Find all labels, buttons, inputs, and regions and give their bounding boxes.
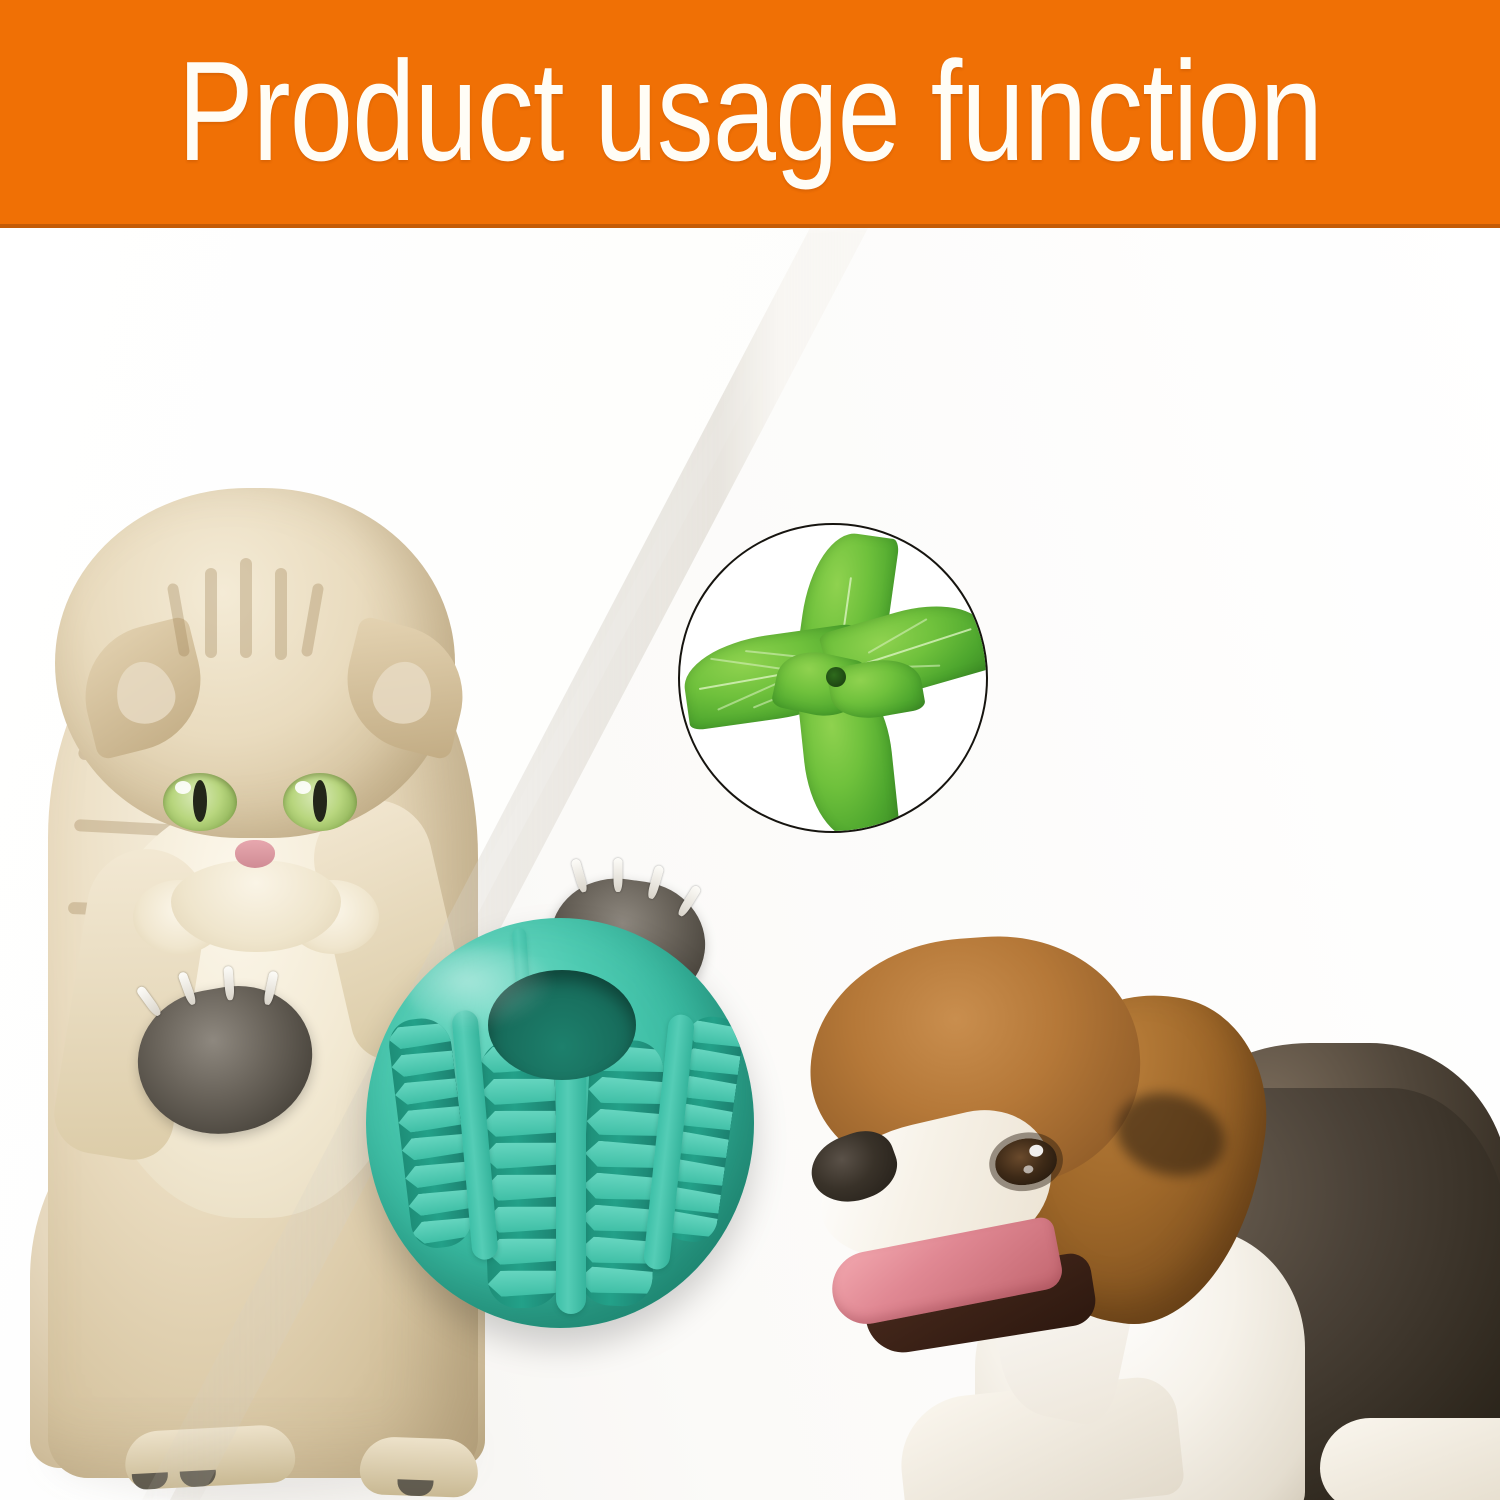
cat-forehead-stripe bbox=[205, 568, 217, 658]
cat-nose bbox=[235, 840, 275, 868]
cat-hind-paw-right bbox=[359, 1436, 479, 1498]
cat-eye-glint bbox=[175, 781, 191, 794]
chew-ball-tooth bbox=[579, 1236, 654, 1266]
chew-ball-tooth bbox=[485, 1205, 560, 1234]
chew-ball-sphere bbox=[366, 918, 754, 1328]
chew-ball-tooth bbox=[401, 1132, 465, 1161]
chew-ball-tooth bbox=[578, 1266, 653, 1296]
chew-ball-tooth bbox=[588, 1076, 663, 1106]
chew-ball-product bbox=[366, 918, 754, 1328]
chew-ball-tooth bbox=[390, 1049, 454, 1078]
dog-hindleg bbox=[1320, 1418, 1500, 1500]
cat-forehead-stripe bbox=[275, 568, 287, 660]
mint-badge-circle bbox=[678, 523, 988, 833]
photo-collage bbox=[0, 228, 1500, 1500]
chew-ball-tooth bbox=[397, 1104, 461, 1133]
chew-ball-tooth bbox=[586, 1108, 661, 1138]
dog-eye-glint bbox=[1028, 1144, 1044, 1158]
cat-claw bbox=[571, 858, 589, 893]
chew-ball-tooth bbox=[394, 1077, 458, 1106]
header-banner: Product usage function bbox=[0, 0, 1500, 228]
page-title: Product usage function bbox=[150, 0, 1350, 224]
product-usage-function-image: Product usage function bbox=[0, 0, 1500, 1500]
cat-eye-right bbox=[283, 773, 357, 831]
cat-pupil bbox=[313, 780, 327, 822]
chew-ball-tooth bbox=[411, 1216, 475, 1245]
chew-ball-tooth bbox=[404, 1160, 468, 1189]
cat-eye-glint bbox=[295, 781, 311, 794]
cat-claw bbox=[614, 858, 623, 892]
chew-ball-tooth bbox=[482, 1109, 557, 1138]
dog-illustration bbox=[760, 788, 1500, 1500]
chew-ball-tooth bbox=[584, 1140, 659, 1170]
cat-forehead-stripe bbox=[240, 558, 252, 658]
chew-ball-tooth bbox=[483, 1141, 558, 1170]
chew-ball-tooth bbox=[484, 1173, 559, 1202]
chew-ball-tooth bbox=[581, 1204, 656, 1234]
cat-head bbox=[55, 488, 455, 838]
chew-ball-tooth bbox=[583, 1172, 658, 1202]
chew-ball-tooth bbox=[481, 1077, 556, 1106]
chew-ball-highlight bbox=[406, 946, 556, 1032]
mint-stem bbox=[826, 667, 846, 687]
cat-ear-inner bbox=[110, 656, 181, 730]
cat-pupil bbox=[193, 780, 207, 822]
cat-forehead-stripe bbox=[301, 583, 325, 658]
chew-ball-tooth bbox=[407, 1188, 471, 1217]
cat-ear-inner bbox=[367, 656, 438, 730]
cat-toe-pad bbox=[397, 1479, 434, 1496]
chew-ball-tooth bbox=[487, 1269, 562, 1298]
cat-ear-left bbox=[70, 615, 215, 760]
chew-ball-tooth bbox=[486, 1237, 561, 1266]
dog-eye-glint bbox=[1023, 1164, 1034, 1174]
cat-eye-left bbox=[163, 773, 237, 831]
mint-flavor-badge bbox=[678, 523, 988, 833]
